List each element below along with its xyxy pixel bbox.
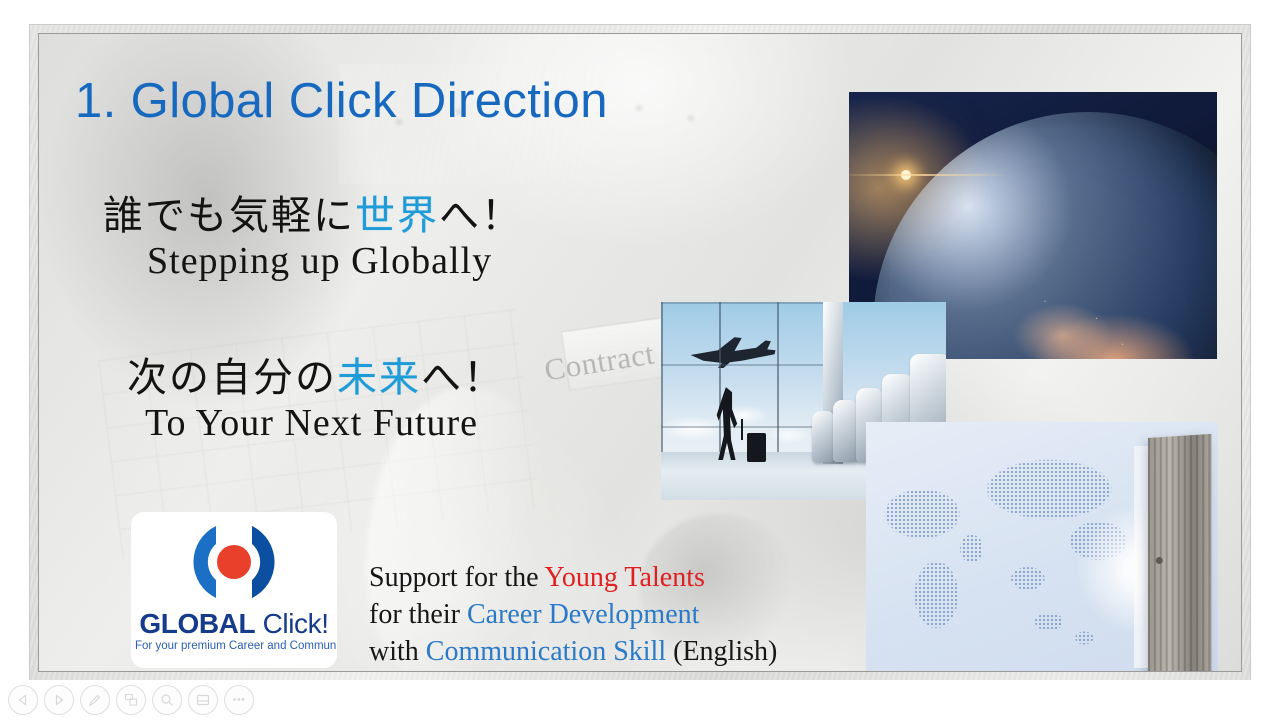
logo-tagline: For your premium Career and Communicatio… xyxy=(135,640,337,652)
japanese-line-2: 次の自分の未来へ！ xyxy=(127,356,505,400)
annotate-pen-button[interactable] xyxy=(80,685,110,715)
slide-canvas[interactable]: Contract 1. Global Click Direction 誰でも気軽… xyxy=(39,34,1241,671)
logo-name-bold: GLOBAL xyxy=(139,608,255,639)
seat-1 xyxy=(812,411,835,462)
message-block-1: 誰でも気軽に世界へ！ Stepping up Globally xyxy=(103,194,523,284)
japanese-line-1: 誰でも気軽に世界へ！ xyxy=(103,194,523,238)
jp2-after: へ！ xyxy=(421,355,505,401)
logo-reflection: For your premium Career and Communicatio… xyxy=(131,670,337,671)
next-slide-button[interactable] xyxy=(44,685,74,715)
logo-reflection-bold: GLOBAL xyxy=(139,670,255,671)
seat-2 xyxy=(833,400,857,463)
presentation-toolbar: ••• xyxy=(0,680,1280,720)
support-line-3-prefix: with xyxy=(369,636,426,667)
ellipsis-icon: ••• xyxy=(232,694,245,706)
wooden-door-panel xyxy=(1148,434,1212,671)
slide-frame: Contract 1. Global Click Direction 誰でも気軽… xyxy=(30,25,1250,680)
globe-click-mark-icon xyxy=(186,520,282,604)
support-line-3: with Communication Skill (English) xyxy=(369,633,777,670)
presenter-view-button[interactable] xyxy=(188,685,218,715)
english-line-1: Stepping up Globally xyxy=(147,240,523,284)
support-line-2-highlight: Career Development xyxy=(467,599,699,630)
jp1-highlight: 世界 xyxy=(355,193,439,239)
grid-slides-icon xyxy=(124,693,138,707)
logo-wordmark: GLOBAL Click! xyxy=(131,608,337,640)
message-block-2: 次の自分の未来へ！ To Your Next Future xyxy=(127,356,505,446)
support-text-block: Support for the Young Talents for their … xyxy=(369,559,777,671)
support-line-2: for their Career Development xyxy=(369,596,777,633)
open-door-world-map-photo xyxy=(866,422,1218,671)
pen-icon xyxy=(88,693,102,707)
logo-name-rest: Click! xyxy=(255,608,328,639)
jp2-highlight: 未来 xyxy=(337,355,421,401)
door-knob-icon xyxy=(1155,557,1162,564)
triangle-left-icon xyxy=(17,694,29,706)
jp1-before: 誰でも気軽に xyxy=(103,193,355,239)
support-line-1-highlight: Young Talents xyxy=(545,562,705,593)
english-line-2: To Your Next Future xyxy=(145,402,505,446)
slide-overview-button[interactable] xyxy=(116,685,146,715)
logo-reflection-rest: Click! xyxy=(255,670,328,671)
logo-card: GLOBAL Click! For your premium Career an… xyxy=(131,512,337,668)
previous-slide-button[interactable] xyxy=(8,685,38,715)
sun-flare-icon xyxy=(901,170,911,180)
jp2-before: 次の自分の xyxy=(127,355,337,401)
support-line-1: Support for the Young Talents xyxy=(369,559,777,596)
magnifier-icon xyxy=(160,693,174,707)
global-click-logo: GLOBAL Click! For your premium Career an… xyxy=(131,512,337,671)
suitcase-icon xyxy=(747,433,767,463)
page-title: 1. Global Click Direction xyxy=(75,76,608,127)
support-line-3-highlight: Communication Skill xyxy=(426,636,666,667)
logo-reflection-wordmark: GLOBAL Click! xyxy=(131,670,337,671)
presentation-viewer: Contract 1. Global Click Direction 誰でも気軽… xyxy=(0,0,1280,720)
support-line-3-suffix: (English) xyxy=(666,636,777,667)
triangle-right-icon xyxy=(53,694,65,706)
zoom-button[interactable] xyxy=(152,685,182,715)
jp1-after: へ！ xyxy=(439,193,523,239)
screen-icon xyxy=(196,693,210,707)
support-line-1-prefix: Support for the xyxy=(369,562,545,593)
support-line-2-prefix: for their xyxy=(369,599,467,630)
more-options-button[interactable]: ••• xyxy=(224,685,254,715)
